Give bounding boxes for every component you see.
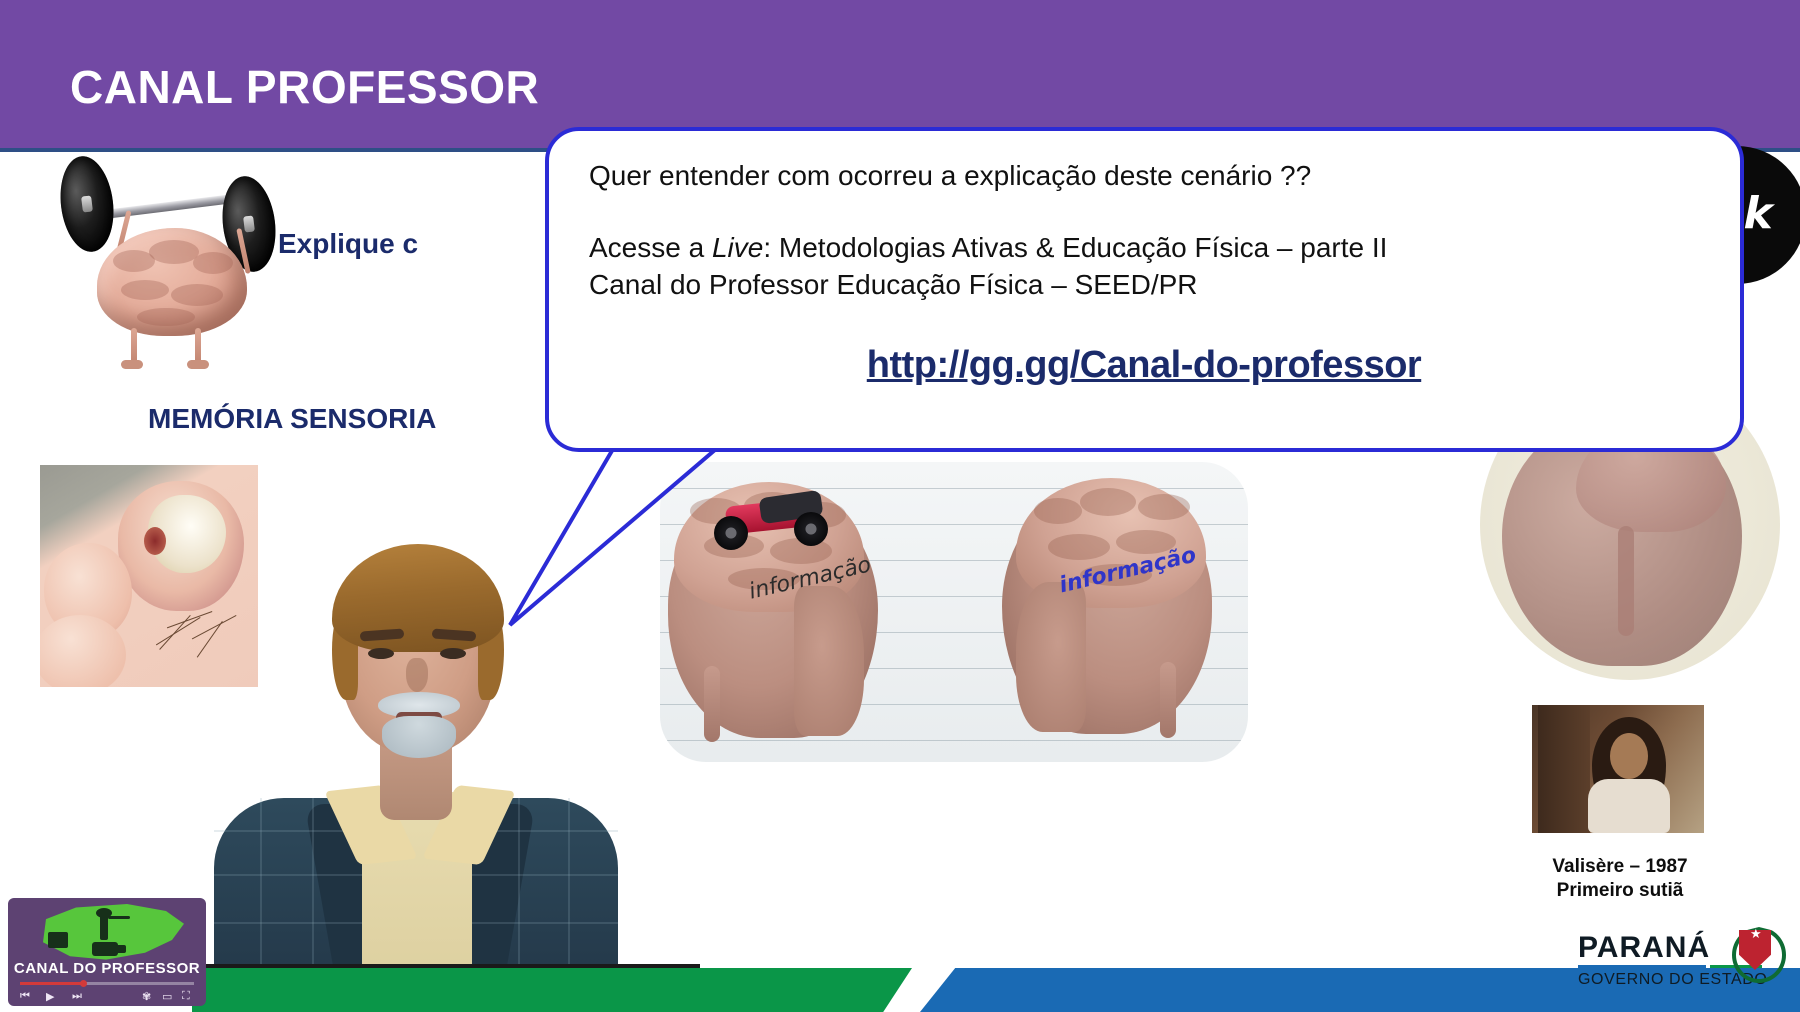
heading-explique: Explique c xyxy=(278,228,418,260)
parana-rule-blue xyxy=(1578,965,1706,968)
head-right xyxy=(982,466,1232,752)
bottom-bar-green xyxy=(192,968,912,1012)
valisere-caption-line2: Primeiro sutiã xyxy=(1500,879,1740,903)
video-controls[interactable]: ⏮ ▶ ⏭ ✾ ▭ ⛶ xyxy=(20,990,194,1004)
skip-next-icon[interactable]: ⏭ xyxy=(72,990,82,1003)
video-progress-handle[interactable] xyxy=(80,980,87,987)
bubble-line-2: Acesse a Live: Metodologias Ativas & Edu… xyxy=(589,229,1699,267)
presenter-arm-icon xyxy=(108,916,130,919)
bubble-line2-italic: Live xyxy=(712,232,763,263)
play-icon[interactable]: ▶ xyxy=(46,990,54,1003)
brain-barbell-icon xyxy=(55,150,280,365)
speech-bubble-tail xyxy=(500,420,780,640)
valisere-caption-line1: Valisère – 1987 xyxy=(1500,855,1740,879)
camera-lens-icon xyxy=(116,945,126,953)
bubble-line2-suffix: : Metodologias Ativas & Educação Física … xyxy=(763,232,1387,263)
fullscreen-icon[interactable]: ⛶ xyxy=(182,990,190,1003)
bubble-line-3: Canal do Professor Educação Física – SEE… xyxy=(589,266,1699,304)
parana-logo-name: PARANÁ xyxy=(1578,931,1710,965)
canal-professor-link[interactable]: http://gg.gg/Canal-do-professor xyxy=(589,340,1699,391)
camera-icon xyxy=(92,942,118,956)
bubble-line-1: Quer entender com ocorreu a explicação d… xyxy=(589,157,1699,195)
speech-bubble: Quer entender com ocorreu a explicação d… xyxy=(545,127,1744,452)
video-progress-fill xyxy=(20,982,82,985)
parana-coat-of-arms-icon: ★ xyxy=(1732,927,1778,977)
barbell-plate-left xyxy=(55,153,118,255)
chair-icon xyxy=(48,932,68,948)
brain-shape xyxy=(97,228,247,336)
gear-icon[interactable]: ✾ xyxy=(142,990,151,1003)
valisere-caption: Valisère – 1987 Primeiro sutiã xyxy=(1500,855,1740,903)
page-title: CANAL PROFESSOR xyxy=(70,60,539,114)
theater-mode-icon[interactable]: ▭ xyxy=(162,990,172,1003)
bubble-line2-prefix: Acesse a xyxy=(589,232,712,263)
valisere-advertisement-photo xyxy=(1532,705,1704,833)
slide-canvas: CANAL PROFESSOR eak A LONGO PRAZO Expliq… xyxy=(0,0,1800,1012)
speech-bubble-text: Quer entender com ocorreu a explicação d… xyxy=(589,157,1699,390)
video-badge-title: CANAL DO PROFESSOR xyxy=(8,960,206,977)
parana-government-logo: PARANÁ GOVERNO DO ESTADO ★ xyxy=(1560,925,1796,1001)
heading-memoria-sensorial: MEMÓRIA SENSORIA xyxy=(148,403,436,435)
skip-previous-icon[interactable]: ⏮ xyxy=(20,990,30,1003)
video-progress-bar[interactable] xyxy=(20,982,194,985)
canal-do-professor-video-badge[interactable]: CANAL DO PROFESSOR ⏮ ▶ ⏭ ✾ ▭ ⛶ xyxy=(8,898,206,1006)
